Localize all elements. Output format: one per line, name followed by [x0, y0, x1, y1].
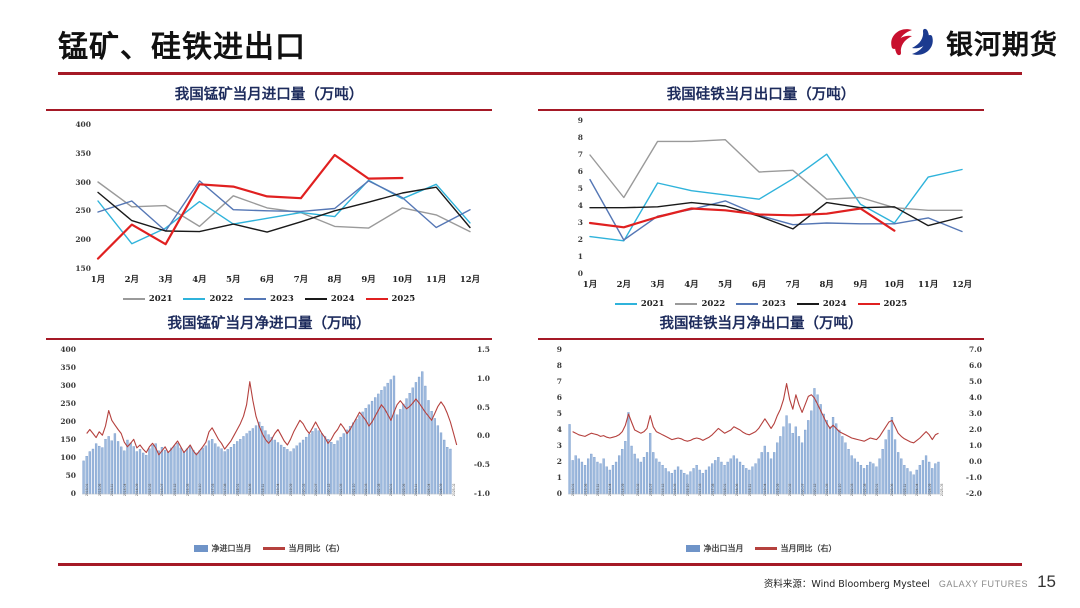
x-axis-date-label: 2022-08 [377, 484, 381, 496]
x-axis-tick-label: 5月 [217, 273, 249, 285]
x-axis-tick-label: 1月 [574, 278, 606, 290]
legend-swatch [244, 298, 266, 301]
logo-text: 银河期货 [946, 23, 1058, 62]
page-footer: 资料来源：Wind Bloomberg Mysteel GALAXY FUTUR… [764, 572, 1056, 592]
bar [230, 447, 232, 494]
x-axis-date-label: 2021-05 [339, 484, 343, 496]
chart-legend: 净出口当月当月同比（右） [538, 543, 984, 554]
bar [758, 459, 760, 494]
x-axis-date-label: 2018-11 [748, 484, 752, 496]
x-axis-date-label: 2017-08 [223, 484, 227, 496]
bar [349, 426, 351, 494]
bar [795, 427, 797, 494]
x-axis-date-label: 2016-05 [186, 484, 190, 496]
bar [296, 446, 298, 494]
bar [882, 449, 884, 494]
y-axis-tick-label: 0 [538, 489, 562, 498]
bar [252, 428, 254, 494]
bar [869, 462, 871, 494]
bar [346, 430, 348, 494]
bar [421, 372, 423, 494]
legend-item-2025[interactable]: 2025 [858, 299, 908, 309]
bar [89, 452, 91, 494]
series-line-2022 [590, 140, 962, 211]
bar [418, 377, 420, 494]
x-axis-date-label: 2017-03 [211, 484, 215, 496]
bar [164, 450, 166, 494]
bar [823, 414, 825, 494]
bar [258, 422, 260, 494]
secondary-y-axis-tick-label: -2.0 [946, 489, 982, 498]
bar [810, 411, 812, 494]
legend-label: 当月同比（右） [289, 543, 345, 554]
bar [333, 444, 335, 494]
x-axis-date-label: 2014-09 [135, 484, 139, 496]
bar [145, 455, 147, 494]
secondary-y-axis-tick-label: 6.0 [946, 361, 982, 370]
x-axis-tick-label: 7月 [777, 278, 809, 290]
x-axis-tick-label: 4月 [183, 273, 215, 285]
bar [782, 427, 784, 494]
legend-swatch [736, 303, 758, 306]
bar [390, 380, 392, 494]
x-axis-date-label: 2022-03 [850, 484, 854, 496]
y-axis-tick-label: 200 [46, 235, 91, 244]
y-axis-tick-label: 4 [538, 425, 562, 434]
bar [324, 436, 326, 494]
legend-item[interactable]: 当月同比（右） [263, 543, 345, 554]
legend-swatch [194, 545, 208, 552]
bar [832, 417, 834, 494]
legend-label: 2021 [149, 294, 173, 304]
company-logo: 银河期货 [886, 18, 1058, 66]
legend-swatch [755, 547, 777, 550]
y-axis-tick-label: 7 [538, 377, 562, 386]
x-axis-date-label: 2022-08 [863, 484, 867, 496]
legend-item-2023[interactable]: 2023 [736, 299, 786, 309]
y-axis-tick-label: 1 [538, 473, 562, 482]
bar [934, 464, 936, 494]
bar [406, 399, 408, 494]
bar [739, 462, 741, 494]
bar [368, 405, 370, 494]
chart-legend: 20212022202320242025 [46, 294, 492, 304]
secondary-y-axis-tick-label: 7.0 [946, 345, 982, 354]
x-axis-tick-label: 3月 [150, 273, 182, 285]
bar [299, 443, 301, 494]
bar [443, 440, 445, 494]
y-axis-tick-label: 0 [538, 269, 583, 278]
x-axis-date-label: 2014-09 [621, 484, 625, 496]
x-axis-date-label: 2022-03 [364, 484, 368, 496]
bar [705, 470, 707, 494]
bar [631, 446, 633, 494]
bar [742, 465, 744, 494]
bar [857, 462, 859, 494]
bar [117, 441, 119, 494]
legend-label: 净进口当月 [212, 543, 252, 554]
chart-legend: 净进口当月当月同比（右） [46, 543, 492, 554]
y-axis-tick-label: 100 [46, 453, 76, 462]
bar [374, 398, 376, 494]
x-axis-date-label: 2018-01 [236, 484, 240, 496]
x-axis-date-label: 2016-10 [198, 484, 202, 496]
secondary-y-axis-tick-label: 0.0 [458, 431, 490, 440]
legend-swatch [366, 298, 388, 301]
y-axis-tick-label: 200 [46, 417, 76, 426]
legend-label: 2021 [641, 299, 665, 309]
y-axis-tick-label: 300 [46, 178, 91, 187]
x-axis-date-label: 2020-12 [813, 484, 817, 496]
bar [708, 467, 710, 494]
bar [773, 452, 775, 494]
chart-area: 1502002503003504001月2月3月4月5月6月7月8月9月10月1… [46, 111, 492, 291]
x-axis-date-label: 2013-01 [571, 484, 575, 496]
x-axis-date-label: 2021-10 [352, 484, 356, 496]
bar [283, 447, 285, 494]
page-title: 锰矿、硅铁进出口 [58, 22, 306, 66]
x-axis-date-label: 2020-12 [327, 484, 331, 496]
legend-label: 净出口当月 [704, 543, 744, 554]
x-axis-tick-label: 6月 [251, 273, 283, 285]
galaxy-swirl-logo-icon [886, 22, 938, 62]
x-axis-date-label: 2015-07 [649, 484, 653, 496]
bar [217, 447, 219, 494]
x-axis-tick-label: 8月 [811, 278, 843, 290]
bar [202, 448, 204, 494]
bar [142, 453, 144, 494]
bar [860, 465, 862, 494]
chart-panel-mn-ore-monthly-import: 我国锰矿当月进口量（万吨） 1502002503003504001月2月3月4月… [46, 83, 492, 304]
legend-swatch [183, 298, 205, 301]
x-axis-date-label: 2017-08 [711, 484, 715, 496]
line-chart-svg [46, 111, 492, 291]
legend-item-2024[interactable]: 2024 [305, 294, 355, 304]
legend-swatch [686, 545, 700, 552]
bar [192, 450, 194, 494]
bar [167, 452, 169, 494]
legend-item[interactable]: 净出口当月 [686, 543, 744, 554]
y-axis-tick-label: 350 [46, 149, 91, 158]
chart-area: 050100150200250300350400-1.0-0.50.00.51.… [46, 340, 492, 540]
x-axis-tick-label: 11月 [912, 278, 944, 290]
bar [925, 456, 927, 494]
x-axis-tick-label: 6月 [743, 278, 775, 290]
series-line-2021 [590, 154, 962, 241]
bar [668, 472, 670, 494]
bar [820, 404, 822, 494]
series-line-2021 [98, 182, 470, 232]
bar [208, 441, 210, 494]
y-axis-tick-label: 3 [538, 218, 583, 227]
bar [139, 449, 141, 494]
x-axis-tick-label: 1月 [82, 273, 114, 285]
bar [755, 464, 757, 494]
x-axis-date-label: 2023-01 [389, 484, 393, 496]
source-text: 资料来源：Wind Bloomberg Mysteel [764, 576, 930, 590]
bar [575, 456, 577, 494]
x-axis-tick-label: 9月 [845, 278, 877, 290]
legend-label: 2022 [209, 294, 233, 304]
y-axis-tick-label: 3 [538, 441, 562, 450]
x-axis-date-label: 2018-06 [735, 484, 739, 496]
y-axis-tick-label: 9 [538, 116, 583, 125]
x-axis-tick-label: 4月 [675, 278, 707, 290]
legend-item-2025[interactable]: 2025 [366, 294, 416, 304]
y-axis-tick-label: 5 [538, 184, 583, 193]
x-axis-date-label: 2021-10 [838, 484, 842, 496]
x-axis-tick-label: 3月 [642, 278, 674, 290]
x-axis-date-label: 2023-06 [890, 484, 894, 496]
x-axis-tick-label: 9月 [353, 273, 385, 285]
bar [402, 404, 404, 494]
bar [321, 434, 323, 494]
bar [603, 459, 605, 494]
secondary-y-axis-tick-label: -1.0 [946, 473, 982, 482]
chart-panel-fesi-monthly-export: 我国硅铁当月出口量（万吨） 01234567891月2月3月4月5月6月7月8月… [538, 83, 984, 309]
x-axis-date-label: 2013-01 [85, 484, 89, 496]
bar [105, 439, 107, 494]
y-axis-tick-label: 400 [46, 120, 91, 129]
chart-legend: 20212022202320242025 [538, 299, 984, 309]
x-axis-tick-label: 2月 [116, 273, 148, 285]
legend-item-2022[interactable]: 2022 [183, 294, 233, 304]
bar [243, 436, 245, 494]
x-axis-date-label: 2020-07 [801, 484, 805, 496]
chart-title: 我国锰矿当月进口量（万吨） [46, 83, 492, 109]
bar [885, 440, 887, 494]
bar [894, 440, 896, 494]
x-axis-date-label: 2015-02 [148, 484, 152, 496]
x-axis-tick-label: 12月 [454, 273, 486, 285]
legend-item-2021[interactable]: 2021 [123, 294, 173, 304]
secondary-y-axis-tick-label: -0.5 [458, 460, 490, 469]
x-axis-tick-label: 7月 [285, 273, 317, 285]
bar [409, 393, 411, 494]
x-axis-date-label: 2024-09 [439, 484, 443, 496]
bar [612, 465, 614, 494]
y-axis-tick-label: 250 [46, 399, 76, 408]
x-axis-date-label: 2019-09 [776, 484, 780, 496]
legend-label: 2022 [701, 299, 725, 309]
x-axis-date-label: 2018-11 [261, 484, 265, 496]
legend-item-2021[interactable]: 2021 [615, 299, 665, 309]
bar [646, 452, 648, 494]
bar [677, 467, 679, 494]
secondary-y-axis-tick-label: 3.0 [946, 409, 982, 418]
legend-label: 2025 [884, 299, 908, 309]
secondary-y-axis-tick-label: 4.0 [946, 393, 982, 402]
bar [717, 457, 719, 494]
bar [835, 424, 837, 494]
x-axis-tick-label: 11月 [420, 273, 452, 285]
y-axis-tick-label: 6 [538, 167, 583, 176]
bar [693, 468, 695, 494]
header-divider [58, 72, 1022, 75]
bar [396, 415, 398, 494]
secondary-y-axis-tick-label: 5.0 [946, 377, 982, 386]
bar [359, 416, 361, 494]
bar [92, 449, 94, 494]
x-axis-date-label: 2020-07 [314, 484, 318, 496]
secondary-y-axis-tick-label: 0.0 [946, 457, 982, 466]
legend-item-2023[interactable]: 2023 [244, 294, 294, 304]
secondary-y-axis-tick-label: -1.0 [458, 489, 490, 498]
bar [205, 446, 207, 494]
bar [384, 387, 386, 494]
x-axis-date-label: 2018-01 [723, 484, 727, 496]
legend-item-2024[interactable]: 2024 [797, 299, 847, 309]
x-axis-date-label: 2023-06 [402, 484, 406, 496]
bar [343, 434, 345, 494]
x-axis-date-label: 2024-09 [928, 484, 932, 496]
x-axis-date-label: 2014-04 [123, 484, 127, 496]
x-axis-tick-label: 10月 [386, 273, 418, 285]
bar [792, 433, 794, 494]
y-axis-tick-label: 50 [46, 471, 76, 480]
bar [655, 459, 657, 494]
secondary-y-axis-tick-label: 2.0 [946, 425, 982, 434]
x-axis-date-label: 2023-11 [903, 484, 907, 496]
legend-label: 2023 [762, 299, 786, 309]
y-axis-tick-label: 8 [538, 361, 562, 370]
bar [233, 444, 235, 494]
bar [308, 434, 310, 494]
bar [730, 459, 732, 494]
legend-swatch [123, 298, 145, 301]
bar [434, 418, 436, 494]
bar [798, 436, 800, 494]
y-axis-tick-label: 2 [538, 235, 583, 244]
x-axis-date-label: 2016-10 [686, 484, 690, 496]
x-axis-date-label: 2015-02 [636, 484, 640, 496]
x-axis-date-label: 2019-04 [763, 484, 767, 496]
bar [362, 412, 364, 494]
bar [590, 454, 592, 494]
y-axis-tick-label: 9 [538, 345, 562, 354]
bar [393, 376, 395, 494]
x-axis-date-label: 2013-11 [596, 484, 600, 496]
x-axis-date-label: 2015-12 [661, 484, 665, 496]
legend-label: 2024 [823, 299, 847, 309]
bar [702, 473, 704, 494]
chart-title: 我国硅铁当月净出口量（万吨） [538, 312, 984, 338]
bar [683, 473, 685, 494]
bar [900, 459, 902, 494]
y-axis-tick-label: 250 [46, 206, 91, 215]
bar [180, 448, 182, 494]
legend-item-2022[interactable]: 2022 [675, 299, 725, 309]
bar [183, 452, 185, 494]
x-axis-date-label: 2018-06 [248, 484, 252, 496]
x-axis-date-label: 2023-01 [875, 484, 879, 496]
legend-swatch [797, 303, 819, 306]
bar [130, 443, 132, 494]
x-axis-date-label: 2019-09 [289, 484, 293, 496]
x-axis-date-label: 2025-02 [452, 484, 456, 496]
bar [829, 427, 831, 494]
x-axis-date-label: 2013-11 [110, 484, 114, 496]
x-axis-date-label: 2024-04 [915, 484, 919, 496]
bar [428, 400, 430, 494]
page-number: 15 [1037, 572, 1056, 592]
bar [615, 462, 617, 494]
legend-swatch [858, 303, 880, 306]
y-axis-tick-label: 5 [538, 409, 562, 418]
bar [817, 395, 819, 494]
bar [280, 445, 282, 494]
chart-panel-mn-ore-net-import: 我国锰矿当月净进口量（万吨） 050100150200250300350400-… [46, 312, 492, 554]
bar [255, 426, 257, 494]
bar [581, 462, 583, 494]
bar [745, 468, 747, 494]
bar [854, 459, 856, 494]
bar [227, 449, 229, 494]
secondary-y-axis-tick-label: 1.0 [946, 441, 982, 450]
bar [770, 459, 772, 494]
bar [371, 401, 373, 494]
footer-divider [58, 563, 1022, 566]
chart-area: 01234567891月2月3月4月5月6月7月8月9月10月11月12月 [538, 111, 984, 296]
x-axis-date-label: 2020-02 [302, 484, 306, 496]
brand-text: GALAXY FUTURES [939, 579, 1028, 589]
legend-item[interactable]: 当月同比（右） [755, 543, 837, 554]
y-axis-tick-label: 350 [46, 363, 76, 372]
y-axis-tick-label: 1 [538, 252, 583, 261]
bar [807, 420, 809, 494]
y-axis-tick-label: 7 [538, 150, 583, 159]
secondary-y-axis-tick-label: 1.5 [458, 345, 490, 354]
line-chart-svg [538, 111, 984, 296]
legend-swatch [305, 298, 327, 301]
y-axis-tick-label: 150 [46, 264, 91, 273]
x-axis-tick-label: 2月 [608, 278, 640, 290]
x-axis-date-label: 2013-06 [98, 484, 102, 496]
bar [922, 460, 924, 494]
combo-chart-svg [46, 340, 492, 540]
x-axis-date-label: 2013-06 [584, 484, 588, 496]
bar [618, 456, 620, 494]
legend-label: 2025 [392, 294, 416, 304]
chart-panel-fesi-net-export: 我国硅铁当月净出口量（万吨） 0123456789-2.0-1.00.01.02… [538, 312, 984, 554]
legend-item[interactable]: 净进口当月 [194, 543, 252, 554]
bar [919, 465, 921, 494]
y-axis-tick-label: 4 [538, 201, 583, 210]
x-axis-date-label: 2024-04 [427, 484, 431, 496]
x-axis-date-label: 2019-04 [276, 484, 280, 496]
bar [399, 409, 401, 494]
x-axis-date-label: 2023-11 [414, 484, 418, 496]
x-axis-tick-label: 10月 [878, 278, 910, 290]
legend-label: 当月同比（右） [781, 543, 837, 554]
x-axis-date-label: 2021-05 [825, 484, 829, 496]
x-axis-date-label: 2025-05 [940, 484, 944, 496]
x-axis-date-label: 2017-03 [698, 484, 702, 496]
bar [767, 452, 769, 494]
bar [680, 470, 682, 494]
x-axis-date-label: 2015-12 [173, 484, 177, 496]
x-axis-date-label: 2016-05 [673, 484, 677, 496]
bar [114, 434, 116, 494]
bar [155, 444, 157, 494]
page-header: 锰矿、硅铁进出口 银河期货 [0, 0, 1080, 78]
bar [891, 417, 893, 494]
bar [424, 386, 426, 494]
series-line-2022 [98, 180, 470, 243]
legend-label: 2023 [270, 294, 294, 304]
chart-title: 我国锰矿当月净进口量（万吨） [46, 312, 492, 338]
y-axis-tick-label: 2 [538, 457, 562, 466]
